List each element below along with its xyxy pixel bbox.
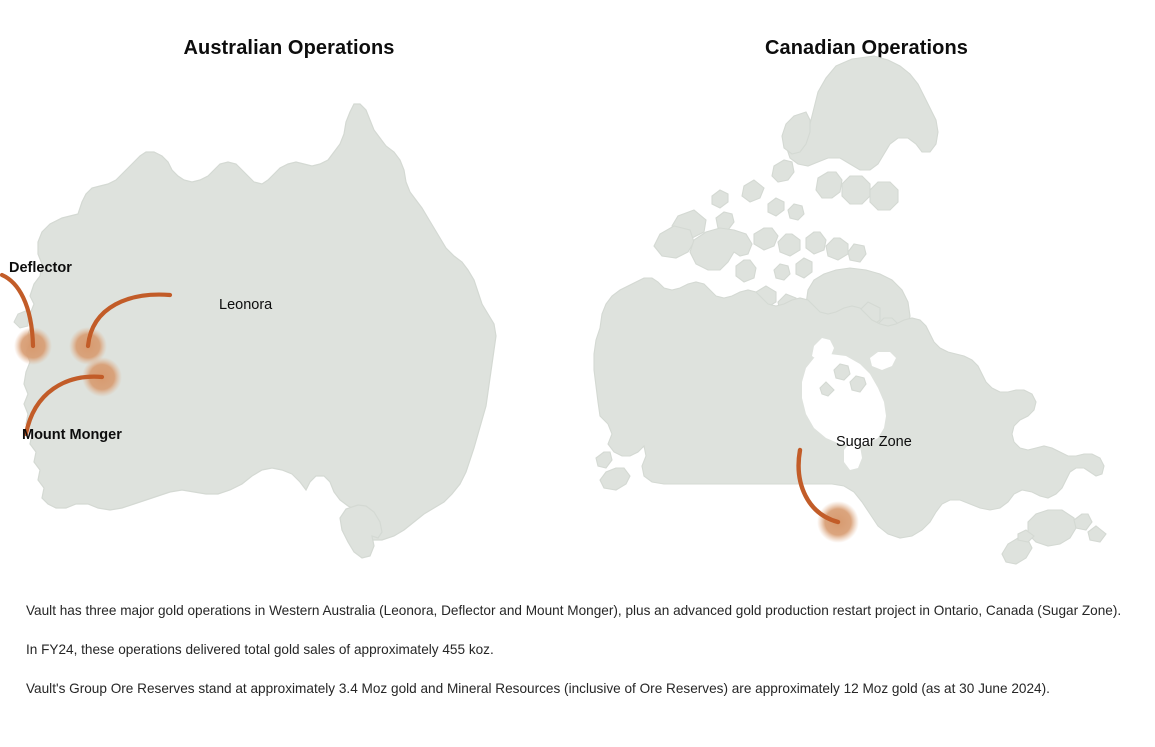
arctic-island-12 (774, 264, 790, 280)
atlantic-island-b (1088, 526, 1106, 542)
canada-map-svg (578, 52, 1155, 587)
map-label-mount-monger: Mount Monger (22, 428, 122, 443)
arctic-island-4 (788, 204, 804, 220)
arctic-island-1 (742, 180, 764, 202)
arctic-island-3 (768, 198, 784, 216)
map-label-sugar-zone: Sugar Zone (836, 435, 912, 450)
northern-island-b (842, 176, 870, 204)
arctic-island-11 (848, 244, 866, 262)
operations-description: Vault has three major gold operations in… (26, 600, 1138, 700)
canada-map-stage (578, 52, 1155, 587)
arctic-island-13 (796, 258, 812, 278)
arctic-island-9 (806, 232, 826, 254)
banks-island-shape (654, 226, 694, 258)
description-paragraph-3: Vault's Group Ore Reserves stand at appr… (26, 678, 1138, 700)
australia-map-svg (0, 52, 578, 587)
australia-west-coast-detail (14, 310, 28, 328)
greenland-shape (786, 56, 938, 170)
haida-gwaii-shape (596, 452, 612, 468)
map-label-leonora: Leonora (219, 298, 272, 313)
axel-heiberg-shape (772, 160, 794, 182)
atlantic-island-a (1074, 514, 1092, 530)
description-paragraph-1: Vault has three major gold operations in… (26, 600, 1138, 622)
arctic-island-2 (712, 190, 728, 208)
arctic-island-14 (736, 260, 756, 282)
map-label-deflector: Deflector (9, 261, 72, 276)
arctic-island-10 (826, 238, 848, 260)
canada-land-group (594, 56, 1106, 564)
australia-map-stage (0, 52, 578, 587)
description-paragraph-2: In FY24, these operations delivered tota… (26, 639, 1138, 661)
arctic-island-7 (754, 228, 778, 250)
vancouver-island-shape (600, 468, 630, 490)
arctic-island-6 (716, 212, 734, 230)
operations-overview-page: Australian Operations (0, 0, 1155, 747)
arctic-island-8 (778, 234, 800, 256)
northern-island-c (870, 182, 898, 210)
newfoundland-shape (1028, 510, 1076, 546)
northern-island-a (816, 172, 842, 198)
